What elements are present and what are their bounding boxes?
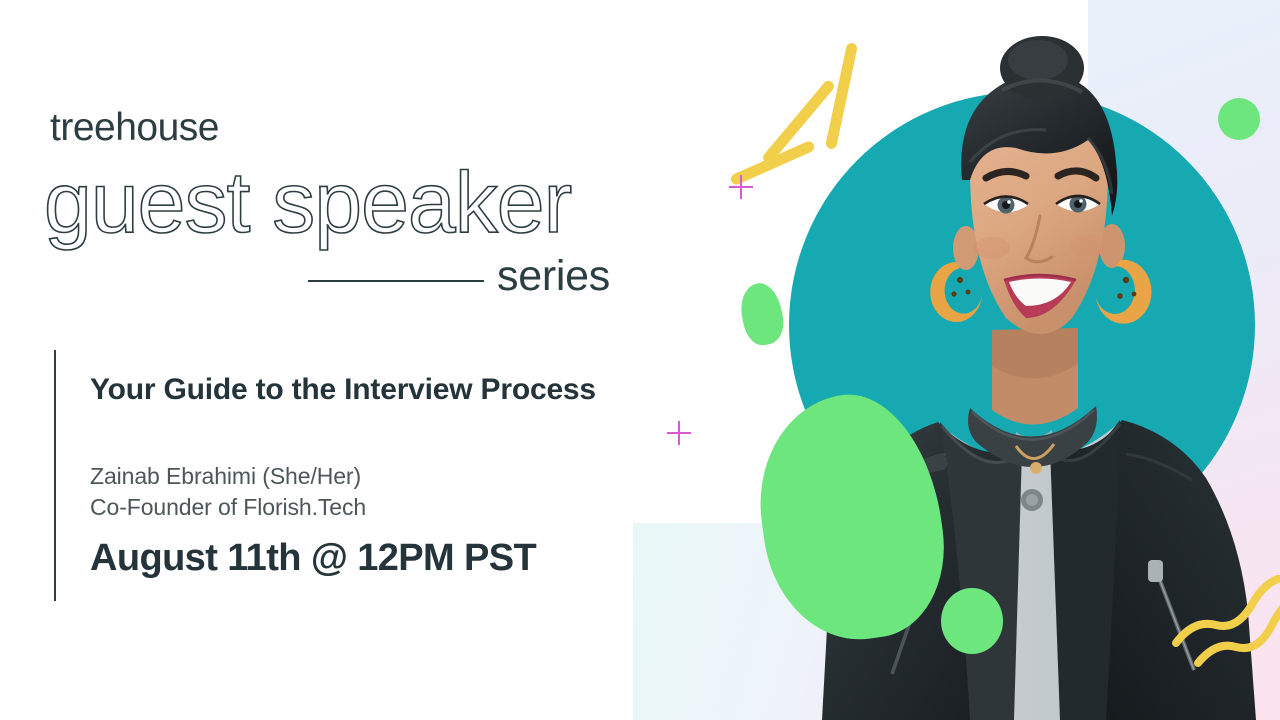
wavy-line-icon — [1168, 575, 1280, 670]
plus-mark-icon-top — [729, 175, 753, 199]
series-label: series — [497, 255, 610, 298]
speaker-role: Co-Founder of Florish.Tech — [90, 492, 366, 523]
event-datetime: August 11th @ 12PM PST — [90, 538, 536, 580]
page-title: guest speaker — [44, 160, 571, 246]
plus-mark-icon-mid — [667, 421, 691, 445]
slide-canvas: treehouse guest speaker series Your Guid… — [0, 0, 1280, 720]
speaker-name: Zainab Ebrahimi (She/Her) — [90, 461, 361, 492]
talk-title: Your Guide to the Interview Process — [90, 370, 610, 409]
green-blob-icon-round — [941, 588, 1003, 654]
brand-wordmark: treehouse — [50, 108, 219, 147]
series-divider — [308, 280, 484, 282]
accent-vertical-rule — [54, 350, 56, 601]
green-blob-icon-small — [737, 280, 787, 348]
